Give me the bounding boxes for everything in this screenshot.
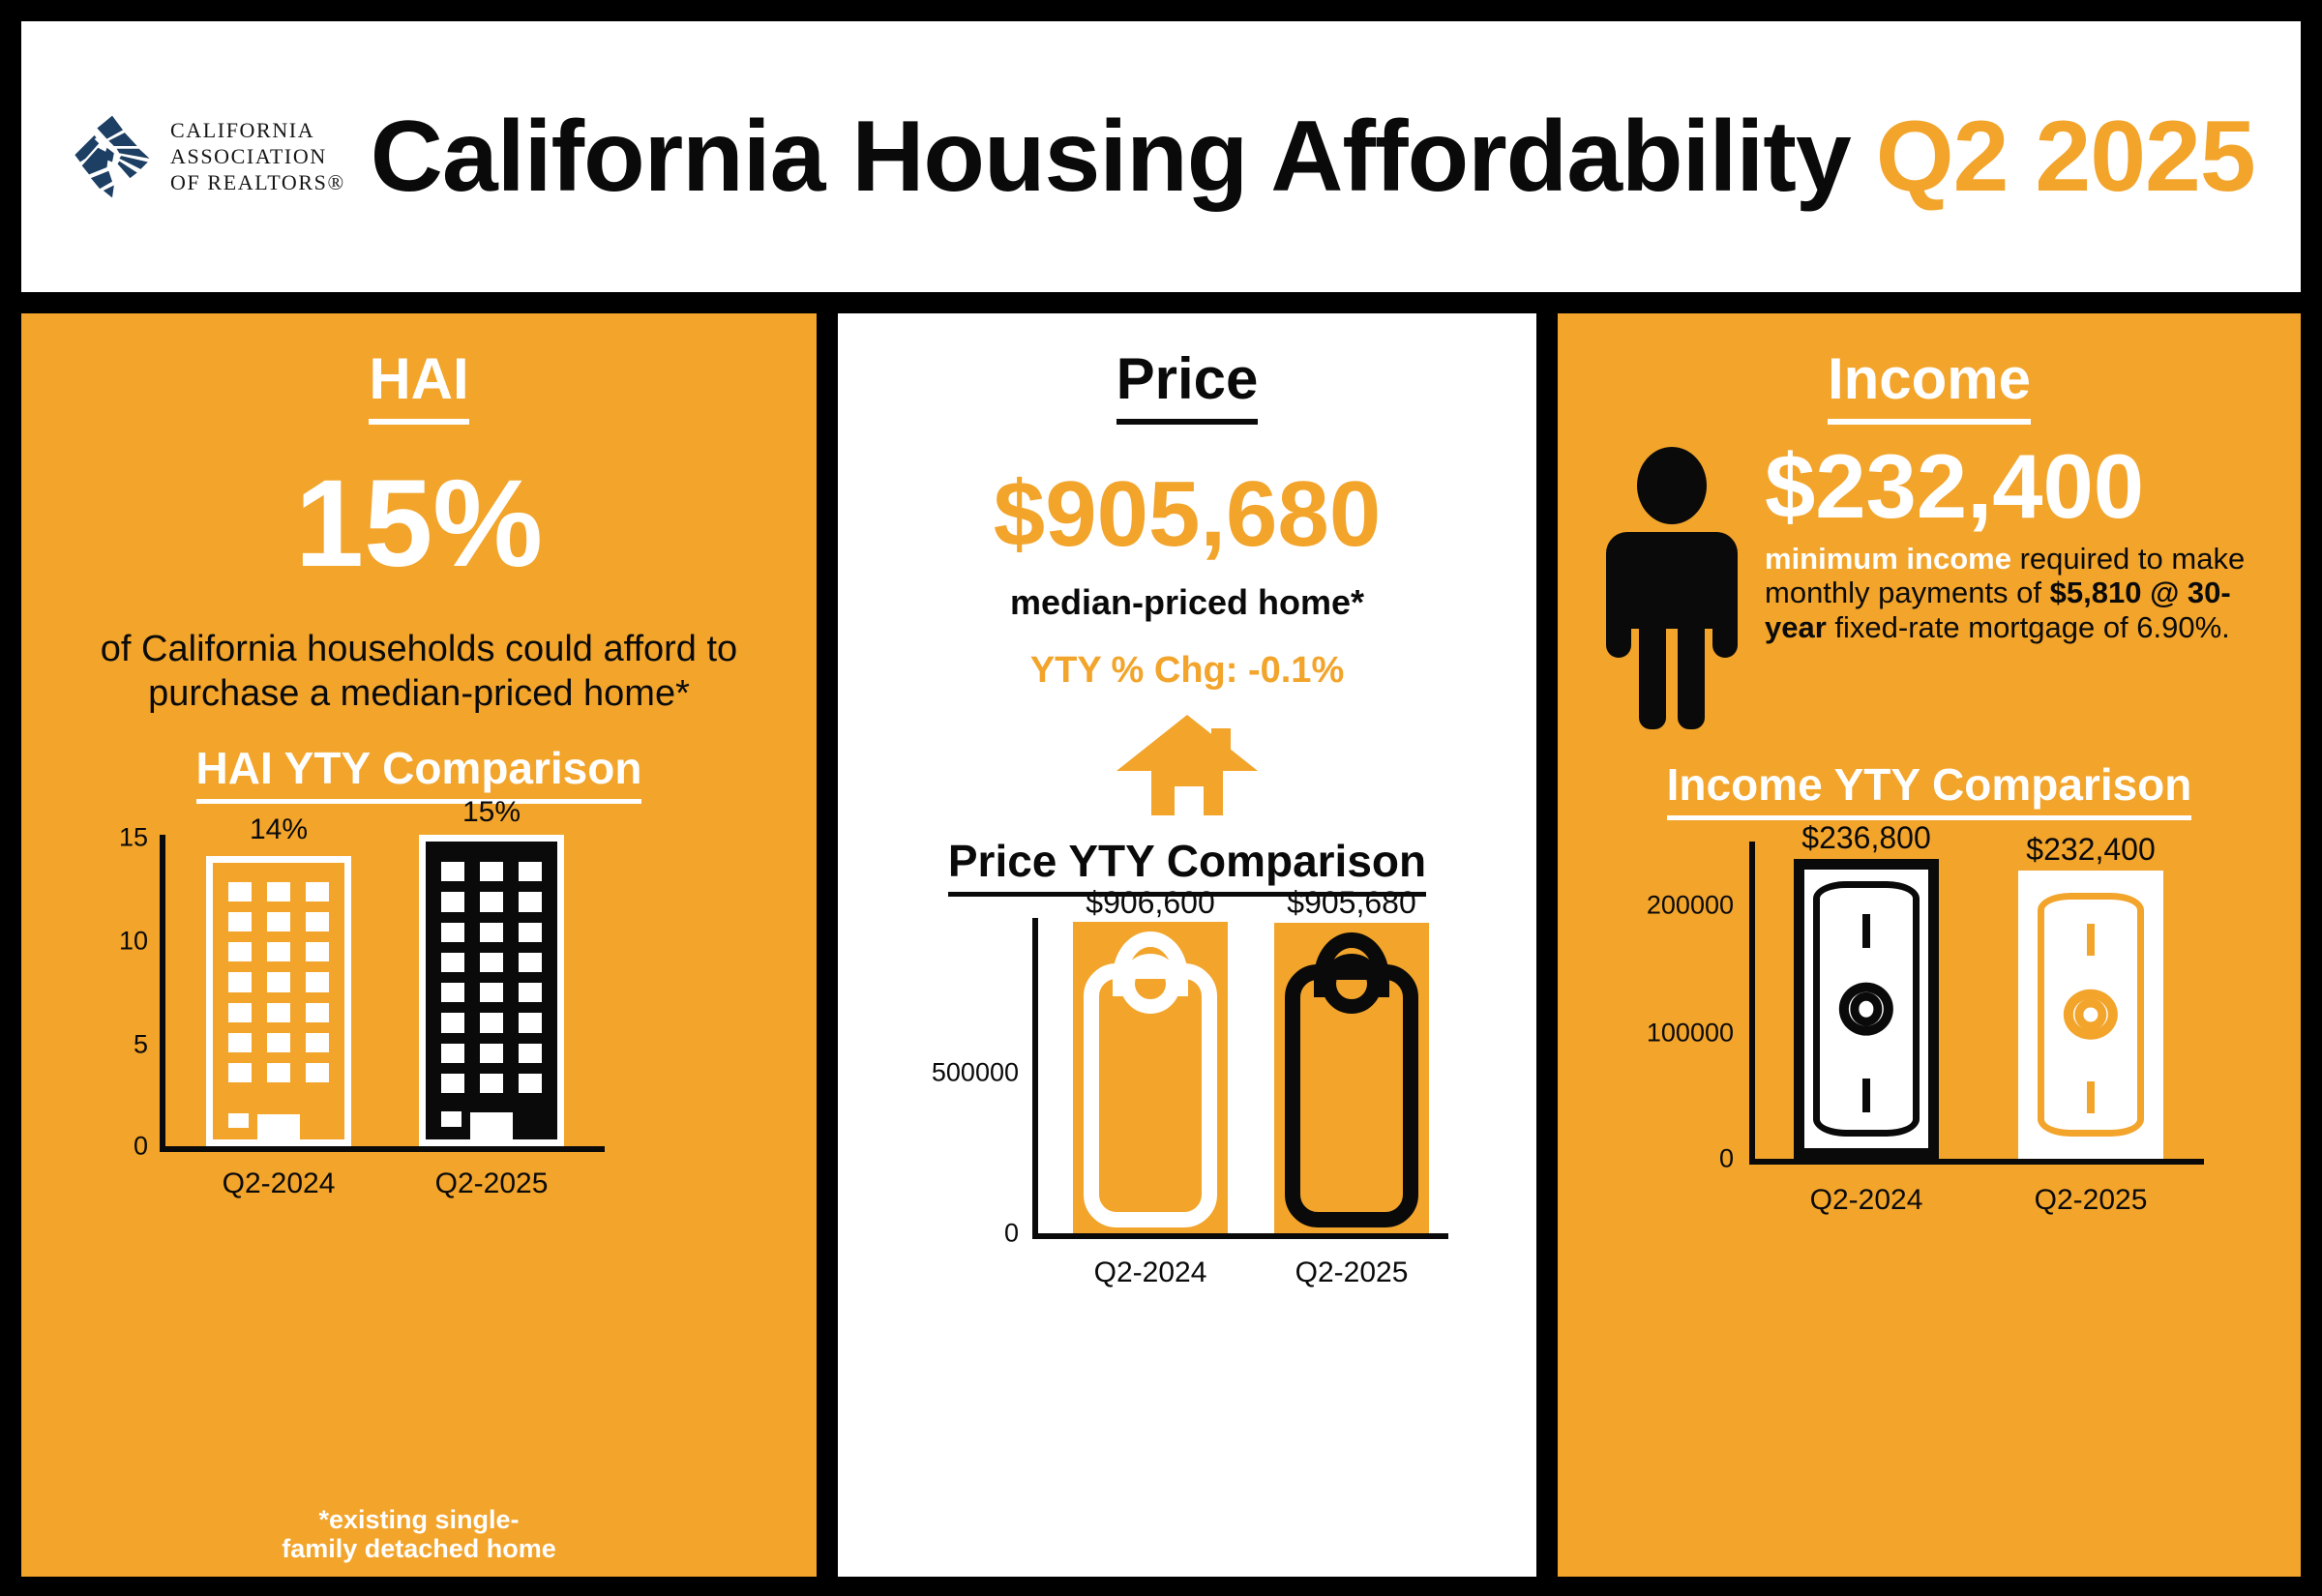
- hai-chart-title-text: HAI YTY Comparison: [196, 743, 642, 804]
- income-desc-lead: minimum income: [1765, 542, 2011, 576]
- income-desc-part2: fixed-rate mortgage of 6.90%.: [1827, 610, 2230, 644]
- price-bar-2025-category-label: Q2-2025: [1255, 1256, 1448, 1289]
- income-bar-2025-category-label: Q2-2025: [1994, 1184, 2188, 1217]
- logo-line-1: CALIFORNIA: [170, 120, 345, 141]
- income-ytick-100000: 100000: [1581, 1019, 1734, 1049]
- person-icon: [1596, 447, 1747, 737]
- price-yty-change: YTY % Chg: -0.1%: [838, 650, 1536, 692]
- price-panel-title: Price: [838, 313, 1536, 408]
- hai-footnote-line-2: family detached home: [21, 1534, 817, 1563]
- hai-bar-2025-door-window: [441, 1111, 461, 1127]
- panel-hai: HAI 15% of California households could a…: [21, 313, 817, 1577]
- price-bar-2025: [1274, 923, 1429, 1233]
- price-bar-2024-tag-icon: [1084, 931, 1217, 1227]
- price-panel-title-text: Price: [1116, 346, 1259, 425]
- panel-price: Price $905,680 median-priced home* YTY %…: [838, 313, 1536, 1577]
- hai-bar-2025: [419, 835, 564, 1146]
- hai-ytick-10: 10: [90, 926, 148, 956]
- income-x-axis: [1749, 1159, 2204, 1165]
- income-bar-2025: [2018, 871, 2163, 1159]
- income-summary: $232,400 minimum income required to make…: [1558, 408, 2301, 737]
- logo-line-3: OF REALTORS®: [170, 172, 345, 193]
- price-value: $905,680: [838, 468, 1536, 561]
- income-chart-title-text: Income YTY Comparison: [1667, 759, 2192, 820]
- price-x-axis: [1032, 1233, 1448, 1239]
- hai-bar-2024-door-window: [228, 1113, 248, 1128]
- panel-income: Income $232,400 minimum i: [1558, 313, 2301, 1577]
- income-bar-2024-category-label: Q2-2024: [1770, 1184, 1963, 1217]
- hai-panel-title-text: HAI: [369, 346, 468, 425]
- car-logo: CALIFORNIA ASSOCIATION OF REALTORS®: [68, 112, 345, 201]
- hai-y-axis: [160, 835, 165, 1146]
- income-text-column: $232,400 minimum income required to make…: [1765, 441, 2262, 644]
- infographic-root: CALIFORNIA ASSOCIATION OF REALTORS® Cali…: [0, 0, 2322, 1596]
- hai-chart-title: HAI YTY Comparison: [21, 746, 817, 790]
- panel-row: HAI 15% of California households could a…: [21, 313, 2301, 1577]
- income-panel-title-text: Income: [1828, 346, 2031, 425]
- car-logo-text: CALIFORNIA ASSOCIATION OF REALTORS®: [170, 120, 345, 193]
- house-icon: [1115, 711, 1260, 817]
- price-bar-2024-value-label: $906,600: [1044, 885, 1257, 921]
- price-chart-title: Price YTY Comparison: [838, 839, 1536, 883]
- hai-chart: 15 10 5 0: [51, 808, 787, 1195]
- car-diamond-logo-icon: [68, 112, 157, 201]
- hai-ytick-15: 15: [90, 822, 148, 852]
- hai-description: of California households could afford to…: [21, 627, 817, 717]
- hai-bar-2024-value-label: 14%: [206, 813, 351, 846]
- income-y-axis: [1749, 842, 1755, 1159]
- quarter-label: Q2 2025: [1876, 106, 2255, 207]
- hai-bar-2025-value-label: 15%: [419, 796, 564, 829]
- price-bar-2025-value-label: $905,680: [1245, 885, 1458, 921]
- price-bar-2024: [1073, 922, 1228, 1233]
- income-bar-2024-banknote-icon: [1794, 859, 1939, 1159]
- income-chart: 200000 100000 0 $236,800 Q2-2024: [1562, 820, 2297, 1227]
- price-ytick-0: 0: [868, 1219, 1019, 1249]
- income-ytick-0: 0: [1581, 1144, 1734, 1174]
- price-ytick-500000: 500000: [868, 1058, 1019, 1088]
- page-title: California Housing Affordability: [371, 106, 1851, 207]
- income-value: $232,400: [1765, 441, 2262, 532]
- header-bar: CALIFORNIA ASSOCIATION OF REALTORS® Cali…: [21, 21, 2301, 292]
- logo-line-2: ASSOCIATION: [170, 146, 345, 167]
- price-bar-2024-category-label: Q2-2024: [1054, 1256, 1247, 1289]
- income-description: minimum income required to make monthly …: [1765, 542, 2262, 644]
- hai-bar-2025-door: [470, 1112, 513, 1139]
- price-subtitle: median-priced home*: [838, 582, 1536, 623]
- income-chart-title: Income YTY Comparison: [1558, 762, 2301, 807]
- hai-bar-2025-category-label: Q2-2025: [400, 1167, 583, 1200]
- hai-footnote-line-1: *existing single-: [21, 1505, 817, 1534]
- income-bar-2024: [1794, 859, 1939, 1159]
- price-y-axis: [1032, 918, 1038, 1233]
- hai-bar-2024: [206, 856, 351, 1146]
- hai-ytick-0: 0: [90, 1131, 148, 1161]
- income-bar-2025-value-label: $232,400: [1984, 832, 2197, 868]
- hai-bar-2025-building-icon: [419, 835, 564, 1146]
- hai-bar-2024-category-label: Q2-2024: [187, 1167, 371, 1200]
- hai-bar-2025-windows: [441, 862, 541, 1093]
- hai-footnote: *existing single- family detached home: [21, 1505, 817, 1563]
- hai-bar-2024-windows: [228, 882, 328, 1083]
- income-panel-title: Income: [1558, 313, 2301, 408]
- price-chart: 500000 0 $906,600 Q2-2024: [848, 895, 1526, 1301]
- hai-value: 15%: [21, 462, 817, 586]
- hai-panel-title: HAI: [21, 313, 817, 408]
- income-bar-2024-value-label: $236,800: [1760, 820, 1973, 856]
- income-bar-2025-banknote-icon: [2018, 871, 2163, 1159]
- price-bar-2025-tag-icon: [1285, 932, 1418, 1227]
- hai-ytick-5: 5: [90, 1029, 148, 1059]
- hai-bar-2024-building-icon: [206, 856, 351, 1146]
- hai-bar-2024-door: [257, 1114, 300, 1139]
- income-ytick-200000: 200000: [1581, 891, 1734, 921]
- hai-x-axis: [160, 1146, 605, 1152]
